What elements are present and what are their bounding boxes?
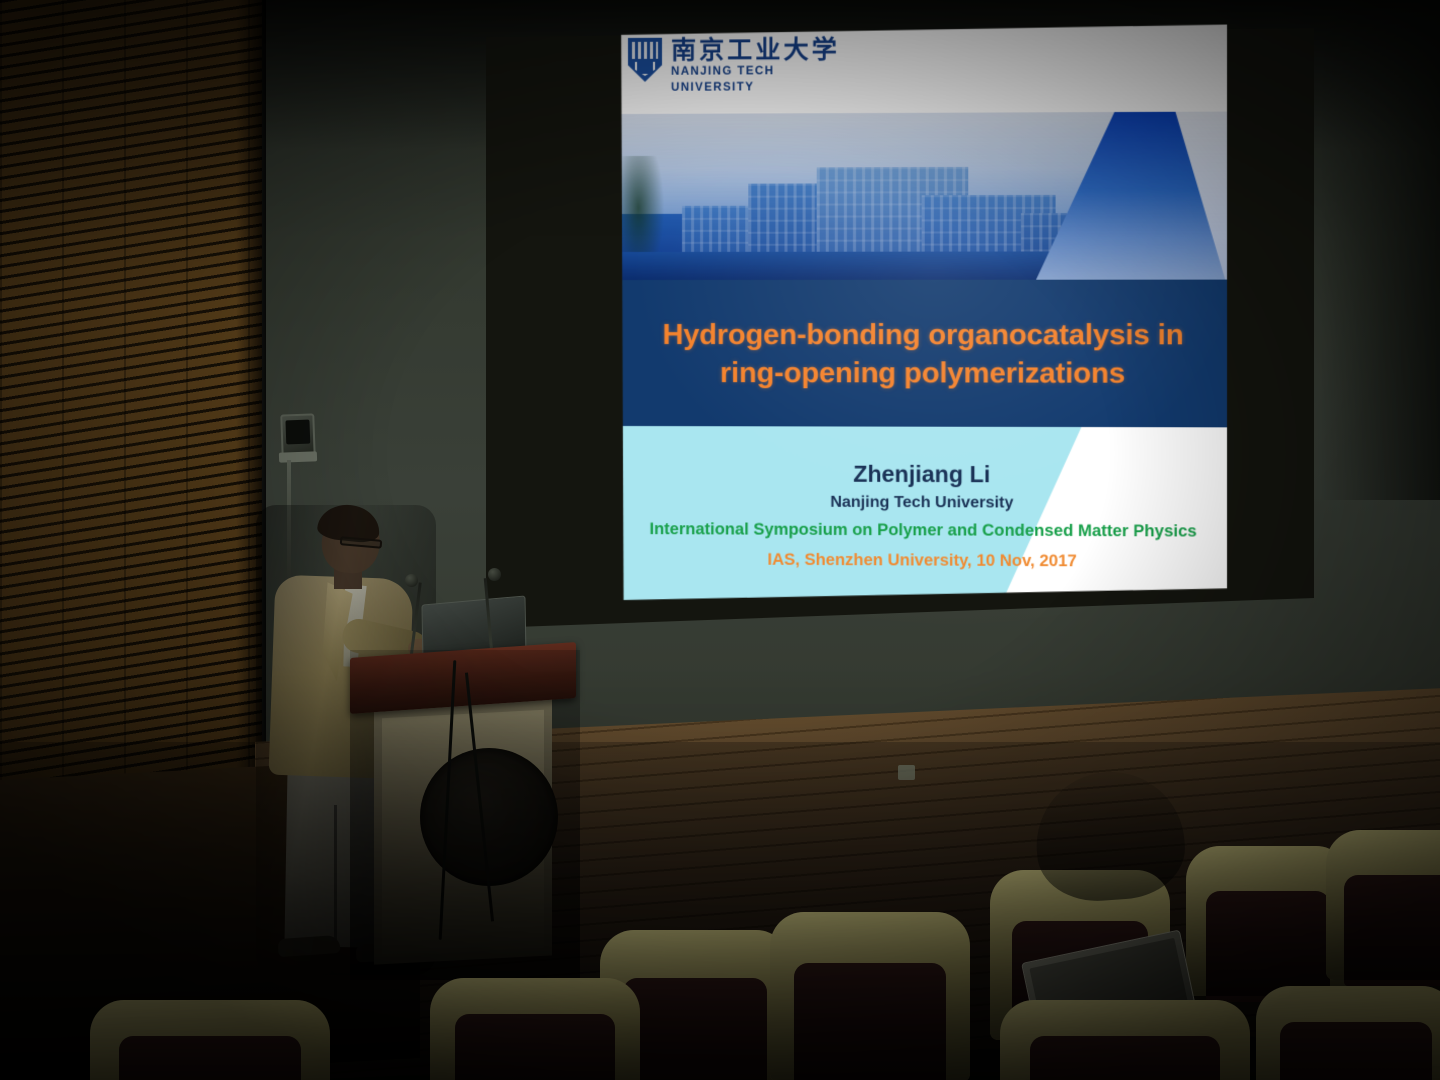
university-name-english-line2: UNIVERSITY — [671, 81, 840, 95]
seat-foreground-left — [430, 978, 640, 1080]
campus-banner-image — [620, 112, 1227, 286]
seat-foreground-right — [1000, 1000, 1250, 1080]
seat-foreground-far-left — [90, 1000, 330, 1080]
slide-info-panel: Zhenjiang Li Nanjing Tech University Int… — [620, 426, 1227, 603]
slide-title-line2: ring-opening polymerizations — [720, 354, 1125, 393]
university-logo-text: 南京工业大学 NANJING TECH UNIVERSITY — [671, 37, 840, 95]
presenter-affiliation: Nanjing Tech University — [830, 494, 1013, 513]
slide-header: 南京工业大学 NANJING TECH UNIVERSITY — [620, 25, 1227, 116]
slide-title-line1: Hydrogen-bonding organocatalysis in — [662, 316, 1183, 355]
auditorium-photo: 南京工业大学 NANJING TECH UNIVERSITY — [0, 0, 1440, 1080]
banner-blue-tint — [620, 112, 1227, 286]
seat-row-back-far-right — [1326, 830, 1440, 980]
seat-foreground-far-right — [1256, 986, 1440, 1080]
university-name-chinese: 南京工业大学 — [671, 37, 840, 64]
seat-front-mid — [770, 912, 970, 1080]
lectern-shading — [350, 650, 580, 980]
speaker-bracket — [279, 451, 317, 462]
venue-and-date: IAS, Shenzhen University, 10 Nov, 2017 — [768, 551, 1077, 572]
lectern — [350, 650, 580, 980]
microphone-right-head — [488, 568, 501, 581]
university-name-english-line1: NANJING TECH — [671, 65, 840, 79]
symposium-name: International Symposium on Polymer and C… — [650, 520, 1197, 541]
slide-title-band: Hydrogen-bonding organocatalysis in ring… — [620, 280, 1227, 430]
university-crest-icon — [628, 38, 662, 82]
wall-right-shadow — [1320, 0, 1440, 500]
presenter-name: Zhenjiang Li — [853, 460, 990, 489]
projected-slide: 南京工业大学 NANJING TECH UNIVERSITY — [620, 25, 1227, 604]
microphone-left-head — [405, 574, 418, 587]
